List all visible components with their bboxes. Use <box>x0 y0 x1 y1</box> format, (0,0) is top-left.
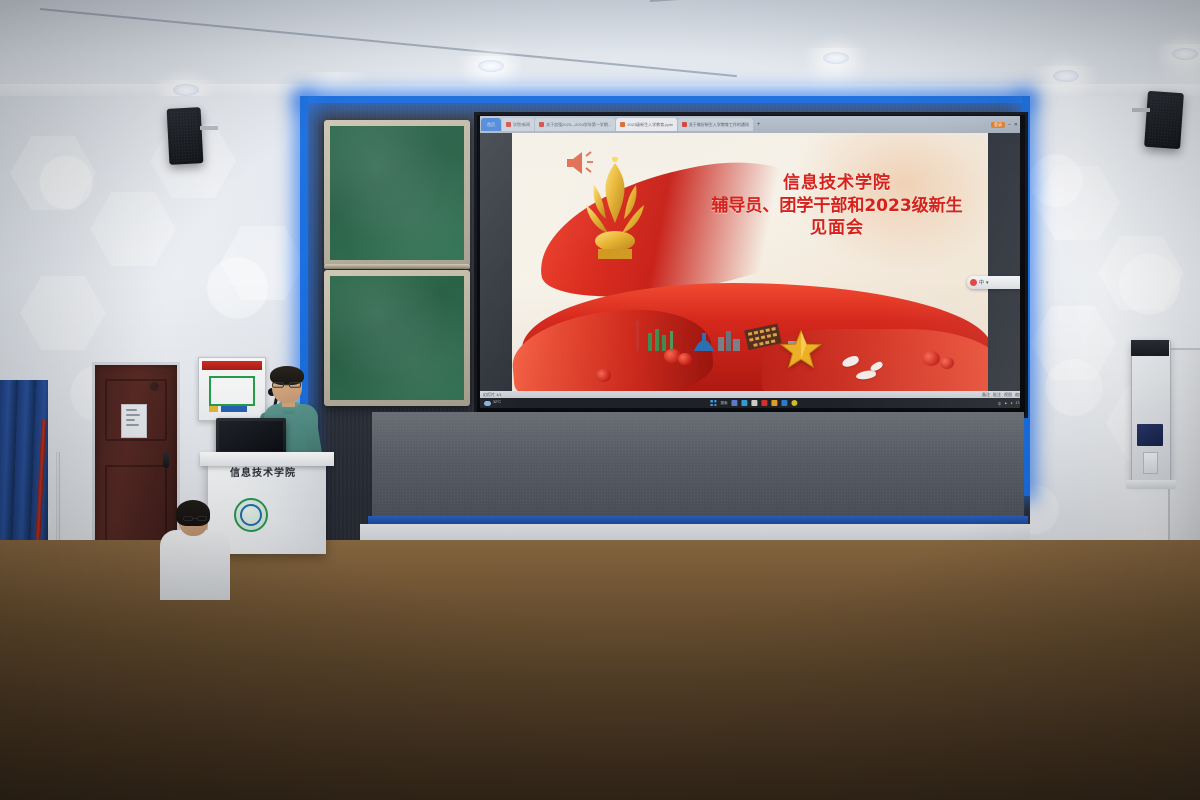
ime-toolbar[interactable]: 中 ▾ <box>967 276 1020 289</box>
ime-options-icon[interactable]: ▾ <box>986 280 989 286</box>
browser-tab-strip[interactable]: 首页 学院/新闻 关于加强2023—2024学年第一学期... 2023级新生入… <box>480 116 1020 133</box>
slide-title-block: 信息技术学院 辅导员、团学干部和2023级新生 见面会 <box>692 173 982 239</box>
browser-tab[interactable]: 关于加强2023—2024学年第一学期... <box>535 118 615 131</box>
projection-screen[interactable]: 首页 学院/新闻 关于加强2023—2024学年第一学期... 2023级新生入… <box>480 116 1020 408</box>
login-badge[interactable]: 登录 <box>991 122 1005 128</box>
windows-taskbar[interactable]: 32°C 搜索 中 ▲ ● 17:08 <box>480 398 1020 408</box>
ceiling-downlight <box>1053 70 1079 82</box>
audience-seating <box>0 470 1200 800</box>
ceiling-downlight <box>1172 48 1198 60</box>
pdf-icon <box>682 122 687 127</box>
status-bar-tools[interactable]: 备注 批注 视图 缩放 <box>982 392 1020 398</box>
door-notice-sheet <box>121 404 147 438</box>
notes-button[interactable]: 备注 <box>982 392 990 398</box>
speaker-grill <box>1147 94 1180 146</box>
taskbar-center-group[interactable]: 搜索 <box>710 400 797 406</box>
poster-title-bar <box>202 361 262 370</box>
explorer-icon[interactable] <box>752 400 758 406</box>
chalkboard-surface <box>330 126 464 260</box>
terminal-header <box>1131 340 1169 356</box>
notice-text-lines <box>126 409 142 433</box>
powerpoint-status-bar: 幻灯片 1/1 备注 批注 视图 缩放 <box>480 391 1020 398</box>
slide-title-line2: 辅导员、团学干部和2023级新生 <box>692 196 982 217</box>
slide-title-line3: 见面会 <box>692 218 982 239</box>
gold-five-point-star <box>780 329 822 369</box>
speaker-bracket <box>200 126 218 130</box>
browser-tab-home[interactable]: 首页 <box>481 118 501 131</box>
slide-title-line1: 信息技术学院 <box>692 173 982 194</box>
speaker-bracket <box>1132 108 1150 112</box>
zoom-button[interactable]: 缩放 <box>1015 392 1020 398</box>
comments-button[interactable]: 批注 <box>993 392 1001 398</box>
browser-tab[interactable]: 学院/新闻 <box>502 118 534 131</box>
chalkboard-surface <box>330 276 464 400</box>
task-view-icon[interactable] <box>732 400 738 406</box>
poster-legend-yellow <box>209 406 218 412</box>
led-strip-top <box>300 96 1030 103</box>
weather-widget[interactable]: 32°C <box>484 401 501 406</box>
wall-speaker-right <box>1144 91 1184 149</box>
weather-temp: 32°C <box>493 401 501 405</box>
browser-tab-active[interactable]: 2023级新生入学教育.pptx <box>616 118 677 131</box>
red-flower <box>940 357 954 369</box>
browser-tab[interactable]: 关于做好新生入学教育工作的通知 <box>678 118 753 131</box>
system-tray[interactable]: 中 ▲ ● 17:08 <box>998 401 1020 406</box>
wps-icon[interactable] <box>762 400 768 406</box>
door-handle[interactable] <box>163 452 169 468</box>
ceiling-seam <box>40 8 737 77</box>
door-peephole-icon <box>150 382 159 391</box>
clock[interactable]: 17:08 <box>1016 401 1021 405</box>
minimize-icon[interactable]: – <box>1008 122 1011 128</box>
red-flower <box>596 369 611 382</box>
new-tab-button[interactable]: + <box>757 122 761 128</box>
window-controls[interactable]: 登录 – ✕ <box>991 122 1020 128</box>
ppt-icon <box>620 122 625 127</box>
ceiling-seam <box>650 0 1200 2</box>
ime-mode-label[interactable]: 中 <box>979 279 984 286</box>
glasses-icon <box>272 382 301 388</box>
speaker-grill <box>170 110 201 161</box>
chalk-tray <box>324 264 470 269</box>
pdf-icon <box>539 122 544 127</box>
ceiling-downlight <box>478 60 504 72</box>
evacuation-poster <box>198 357 266 421</box>
slide-letterbox-right <box>988 133 1020 391</box>
search-input[interactable]: 搜索 <box>720 401 727 406</box>
auditorium-photo: 首页 学院/新闻 关于加强2023—2024学年第一学期... 2023级新生入… <box>0 0 1200 800</box>
store-icon[interactable] <box>782 400 788 406</box>
terminal-display[interactable] <box>1137 424 1163 446</box>
close-icon[interactable]: ✕ <box>1014 122 1018 128</box>
chrome-icon[interactable] <box>792 400 798 406</box>
wall-speaker-left <box>167 107 204 165</box>
ceiling-downlight <box>173 84 199 96</box>
volume-icon[interactable]: ● <box>1010 401 1012 405</box>
poster-legend-blue <box>221 406 247 412</box>
chalkboard-lower <box>324 270 470 406</box>
national-emblem-gold <box>578 157 652 277</box>
cloud-icon <box>484 401 491 406</box>
view-button[interactable]: 视图 <box>1004 392 1012 398</box>
ceiling-downlight <box>823 52 849 64</box>
folder-icon[interactable] <box>772 400 778 406</box>
powerpoint-slide: 信息技术学院 辅导员、团学干部和2023级新生 见面会 <box>512 133 988 391</box>
start-button-icon[interactable] <box>710 400 716 406</box>
poster-floor-plan <box>209 376 255 406</box>
edge-icon[interactable] <box>742 400 748 406</box>
slide-counter: 幻灯片 1/1 <box>483 392 502 398</box>
red-flower <box>922 351 940 366</box>
red-flower <box>678 353 692 365</box>
pdf-icon <box>506 122 511 127</box>
network-icon[interactable]: ▲ <box>1004 401 1007 405</box>
podium-monitor-screen[interactable] <box>219 421 283 451</box>
tray-ime-icon[interactable]: 中 <box>998 401 1001 406</box>
ime-logo-icon <box>970 279 977 286</box>
chalkboard-upper <box>324 120 470 266</box>
slide-letterbox-left <box>480 133 512 391</box>
